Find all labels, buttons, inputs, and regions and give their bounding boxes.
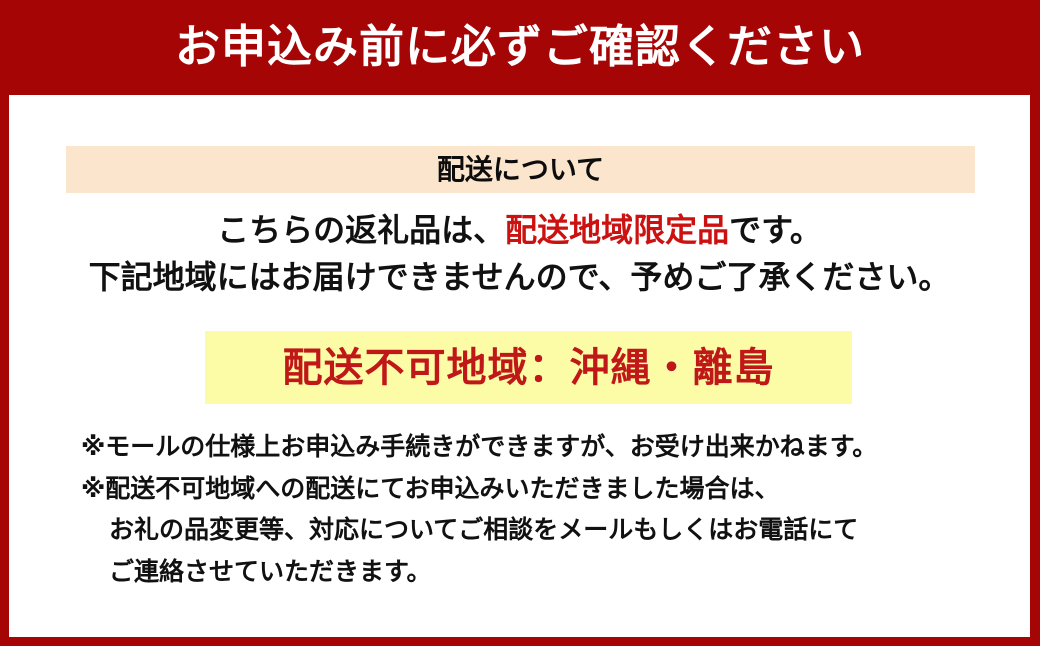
footnote-line-3: お礼の品変更等、対応についてご相談をメールもしくはお電話にて	[81, 510, 990, 552]
title-banner: お申込み前に必ずご確認ください	[0, 0, 1040, 95]
statement-block: こちらの返礼品は、配送地域限定品です。 下記地域にはお届けできませんので、予めご…	[9, 207, 1030, 300]
restricted-area-highlight-band: 配送不可地域：沖縄・離島	[205, 331, 852, 404]
bottom-frame-band	[0, 637, 1040, 646]
statement-line-2: 下記地域にはお届けできませんので、予めご了承ください。	[9, 254, 1030, 301]
notice-content: 配送について こちらの返礼品は、配送地域限定品です。 下記地域にはお届けできませ…	[9, 95, 1030, 637]
statement-line-1: こちらの返礼品は、配送地域限定品です。	[9, 207, 1030, 254]
section-heading-label: 配送について	[437, 156, 604, 184]
delivery-notice-card: お申込み前に必ずご確認ください 配送について こちらの返礼品は、配送地域限定品で…	[0, 0, 1040, 646]
footnote-line-2: ※配送不可地域への配送にてお申込みいただきました場合は、	[81, 469, 990, 511]
footnote-block: ※モールの仕様上お申込み手続きができますが、お受け出来かねます。 ※配送不可地域…	[81, 427, 990, 593]
footnote-line-4: ご連絡させていただきます。	[81, 552, 990, 594]
page-title: お申込み前に必ずご確認ください	[175, 24, 865, 69]
statement-line-1-after: です。	[729, 212, 822, 248]
statement-line-1-emphasis: 配送地域限定品	[505, 212, 729, 248]
footnote-line-1: ※モールの仕様上お申込み手続きができますが、お受け出来かねます。	[81, 427, 990, 469]
statement-line-1-before: こちらの返礼品は、	[217, 212, 505, 248]
restricted-area-label: 配送不可地域：沖縄・離島	[283, 348, 775, 388]
section-heading-band: 配送について	[66, 146, 975, 193]
